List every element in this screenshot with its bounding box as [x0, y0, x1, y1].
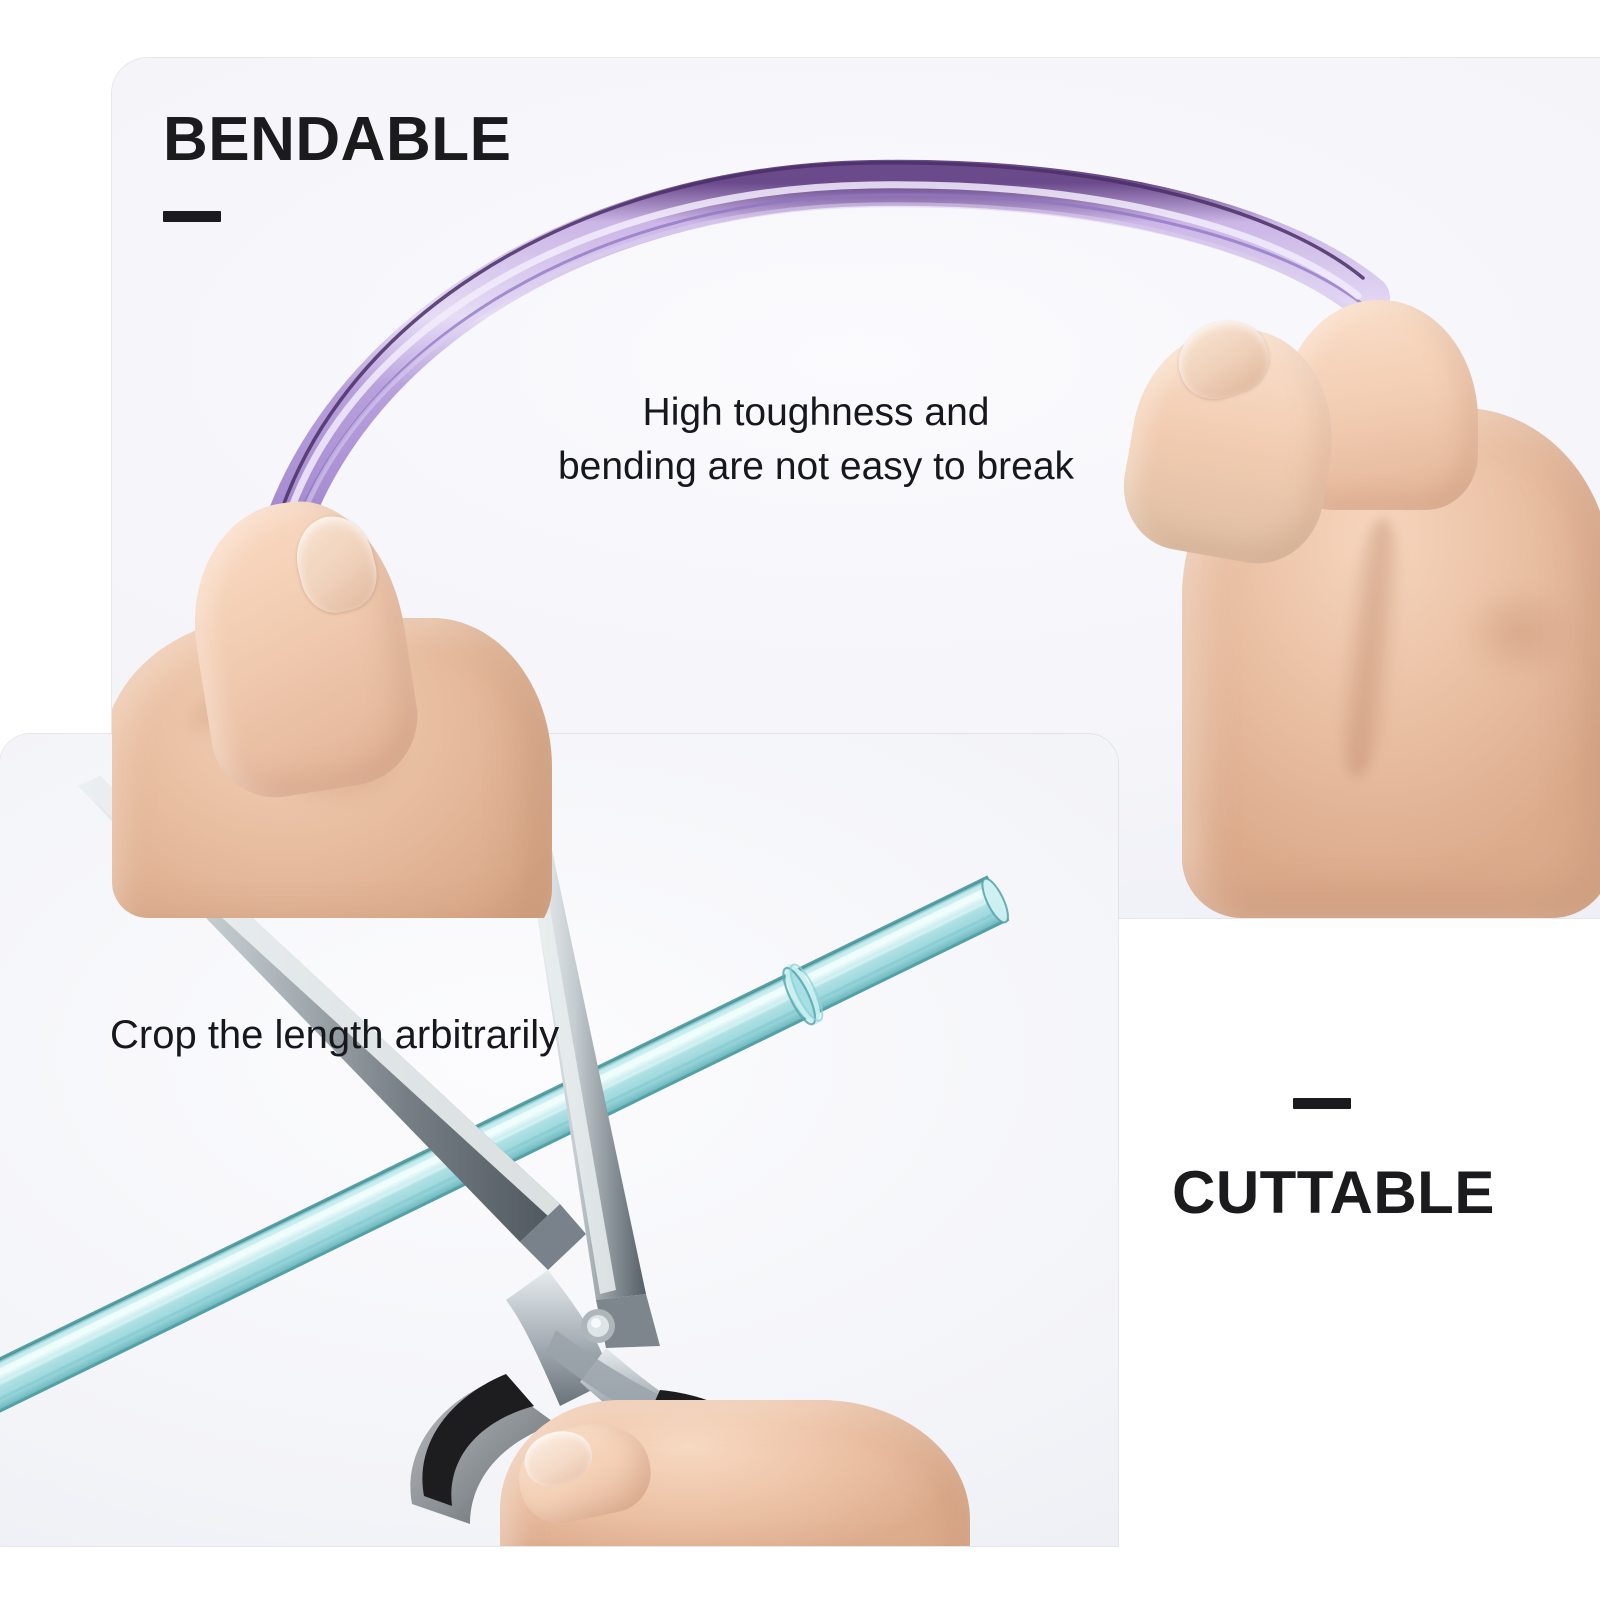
- caption-toughness-line-1: High toughness and: [516, 386, 1116, 440]
- hand-left-holding-tube: [112, 498, 572, 918]
- scissor-pivot-screw: [581, 1309, 615, 1343]
- caption-crop-length: Crop the length arbitrarily: [110, 1013, 559, 1058]
- hand-right-pinching-tube: [1152, 288, 1600, 918]
- hand-holding-scissors: [500, 1374, 970, 1546]
- caption-toughness-line-2: bending are not easy to break: [516, 440, 1116, 494]
- caption-toughness: High toughness and bending are not easy …: [516, 386, 1116, 494]
- infographic-canvas: BENDABLE High toughness and bending are …: [0, 0, 1600, 1600]
- heading-cuttable: CUTTABLE: [1172, 1158, 1495, 1227]
- right-hand-knuckle-shadow: [1452, 588, 1600, 698]
- heading-bendable: BENDABLE: [163, 104, 511, 175]
- divider-dash-bendable: [163, 211, 221, 222]
- divider-dash-cuttable: [1293, 1098, 1351, 1109]
